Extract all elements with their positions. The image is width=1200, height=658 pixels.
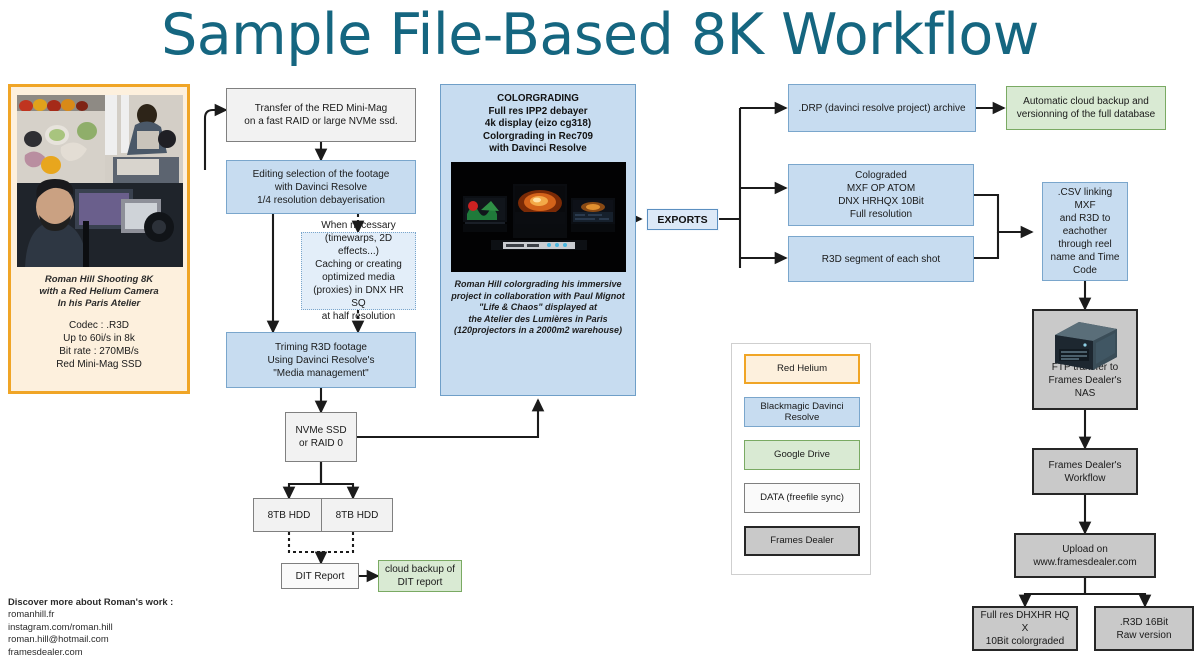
node-r3d-segment[interactable]: R3D segment of each shot [788, 236, 974, 282]
legend-item-blackmagic-davinci-resolve: Blackmagic Davinci Resolve [744, 397, 860, 427]
node-csv-linking[interactable]: .CSV linking MXF and R3D to eachother th… [1042, 182, 1128, 281]
contact-heading: Discover more about Roman's work : [8, 596, 238, 608]
node-8tb-hdd-left[interactable]: 8TB HDD [253, 498, 325, 532]
contact-framesdealer[interactable]: framesdealer.com [8, 646, 238, 658]
node-transfer-red-minimag[interactable]: Transfer of the RED Mini-Mag on a fast R… [226, 88, 416, 142]
node-triming-r3d-footage[interactable]: Triming R3D footage Using Davinci Resolv… [226, 332, 416, 388]
page-title: Sample File-Based 8K Workflow [0, 2, 1200, 68]
nas-server-icon [1034, 319, 1136, 373]
colorgrading-panel[interactable]: COLORGRADING Full res IPP2 debayer 4k di… [440, 84, 636, 396]
legend-item-google-drive: Google Drive [744, 440, 860, 470]
legend-item-frames-dealer: Frames Dealer [744, 526, 860, 556]
workflow-diagram: Sample File-Based 8K Workflow [0, 0, 1200, 658]
node-nvme-ssd-raid0[interactable]: NVMe SSD or RAID 0 [285, 412, 357, 462]
node-ftp-transfer-nas[interactable]: FTP transfer to Frames Dealer's NAS [1032, 309, 1138, 410]
node-automatic-cloud-backup[interactable]: Automatic cloud backup and versionning o… [1006, 86, 1166, 130]
contact-instagram[interactable]: instagram.com/roman.hill [8, 621, 238, 633]
node-dit-report[interactable]: DIT Report [281, 563, 359, 589]
node-full-res-output[interactable]: Full res DHXHR HQ X 10Bit colorgraded [972, 606, 1078, 651]
roman-hill-shooting-photo [17, 95, 183, 267]
contact-email[interactable]: roman.hill@hotmail.com [8, 633, 238, 645]
node-editing-selection[interactable]: Editing selection of the footage with Da… [226, 160, 416, 214]
exports-node[interactable]: EXPORTS [647, 209, 718, 230]
colorgrading-heading: COLORGRADING Full res IPP2 debayer 4k di… [448, 93, 628, 156]
legend-item-data-freefile-sync: DATA (freefile sync) [744, 483, 860, 513]
colorgrading-suite-photo [451, 162, 626, 272]
red-helium-camera-panel: Roman Hill Shooting 8K with a Red Helium… [8, 84, 190, 394]
camera-photo-caption: Roman Hill Shooting 8K with a Red Helium… [17, 274, 181, 310]
node-frames-dealer-workflow[interactable]: Frames Dealer's Workflow [1032, 448, 1138, 495]
node-cloud-backup-dit-report[interactable]: cloud backup of DIT report [378, 560, 462, 592]
colorgrading-caption: Roman Hill colorgrading his immersive pr… [448, 279, 628, 337]
node-drp-archive[interactable]: .DRP (davinci resolve project) archive [788, 84, 976, 132]
node-when-necessary[interactable]: When necessary (timewarps, 2D effects...… [301, 232, 416, 310]
camera-specs: Codec : .R3D Up to 60i/s in 8k Bit rate … [17, 319, 181, 371]
legend-panel: Red Helium Blackmagic Davinci Resolve Go… [731, 343, 871, 575]
node-upload-framesdealer[interactable]: Upload on www.framesdealer.com [1014, 533, 1156, 578]
legend-item-red-helium: Red Helium [744, 354, 860, 384]
node-r3d-raw-output[interactable]: .R3D 16Bit Raw version [1094, 606, 1194, 651]
contact-website[interactable]: romanhill.fr [8, 608, 238, 620]
node-8tb-hdd-right[interactable]: 8TB HDD [321, 498, 393, 532]
node-colograded-mxf[interactable]: Colograded MXF OP ATOM DNX HRHQX 10Bit F… [788, 164, 974, 226]
contact-block: Discover more about Roman's work : roman… [8, 596, 238, 658]
